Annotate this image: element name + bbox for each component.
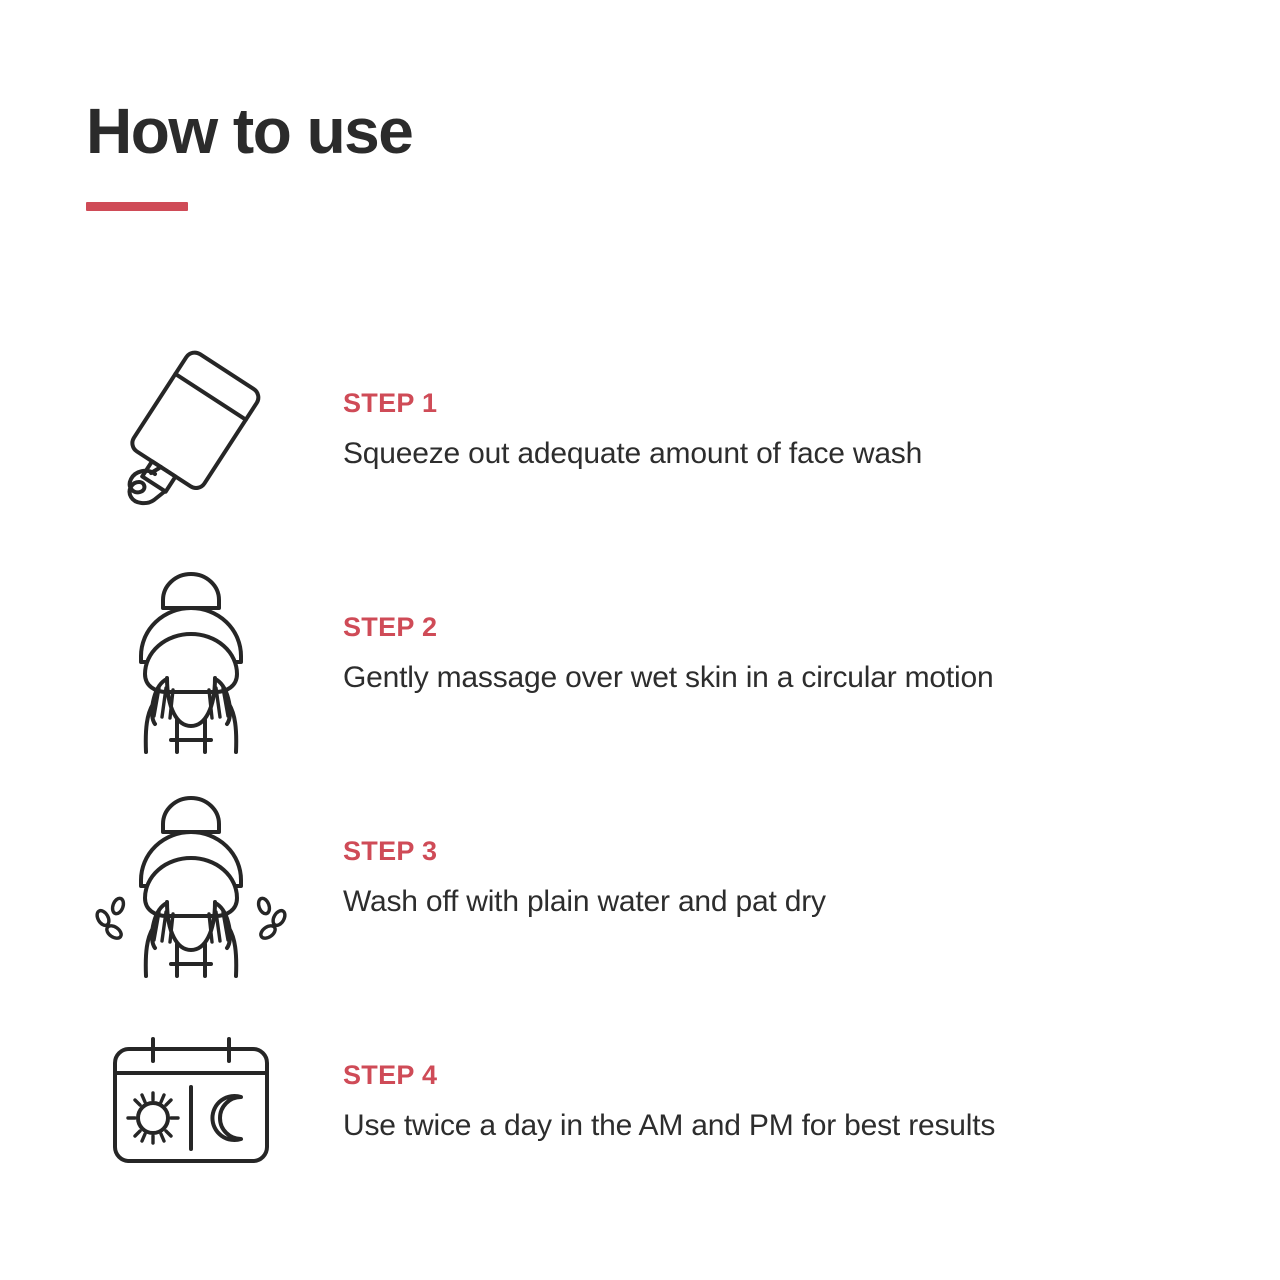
splash-right xyxy=(257,897,288,941)
page-title: How to use xyxy=(86,98,986,165)
step-text-block: STEP 3 Wash off with plain water and pat… xyxy=(343,766,826,990)
step-item: STEP 3 Wash off with plain water and pat… xyxy=(0,766,1280,990)
step-item: STEP 2 Gently massage over wet skin in a… xyxy=(0,542,1280,766)
face-massage-icon xyxy=(86,542,296,766)
steps-list: STEP 1 Squeeze out adequate amount of fa… xyxy=(0,318,1280,1214)
title-accent-rule xyxy=(86,202,188,211)
step-label: STEP 2 xyxy=(343,614,993,641)
step-text-block: STEP 4 Use twice a day in the AM and PM … xyxy=(343,990,995,1214)
step-item: STEP 1 Squeeze out adequate amount of fa… xyxy=(0,318,1280,542)
step-description: Squeeze out adequate amount of face wash xyxy=(343,437,922,470)
splash-left xyxy=(95,897,126,941)
moon-glyph xyxy=(212,1096,241,1140)
step-label: STEP 3 xyxy=(343,838,826,865)
step-item: STEP 4 Use twice a day in the AM and PM … xyxy=(0,990,1280,1214)
how-to-use-panel: How to use xyxy=(0,0,1280,1280)
step-label: STEP 1 xyxy=(343,390,922,417)
step-description: Wash off with plain water and pat dry xyxy=(343,885,826,918)
step-description: Gently massage over wet skin in a circul… xyxy=(343,661,993,694)
step-label: STEP 4 xyxy=(343,1062,995,1089)
step-text-block: STEP 2 Gently massage over wet skin in a… xyxy=(343,542,993,766)
tube-squeeze-icon xyxy=(86,318,296,542)
calendar-sun-moon-icon xyxy=(86,990,296,1214)
step-description: Use twice a day in the AM and PM for bes… xyxy=(343,1109,995,1142)
header: How to use xyxy=(86,98,986,211)
step-text-block: STEP 1 Squeeze out adequate amount of fa… xyxy=(343,318,922,542)
face-rinse-splash-icon xyxy=(86,766,296,990)
sun-glyph xyxy=(128,1093,178,1143)
